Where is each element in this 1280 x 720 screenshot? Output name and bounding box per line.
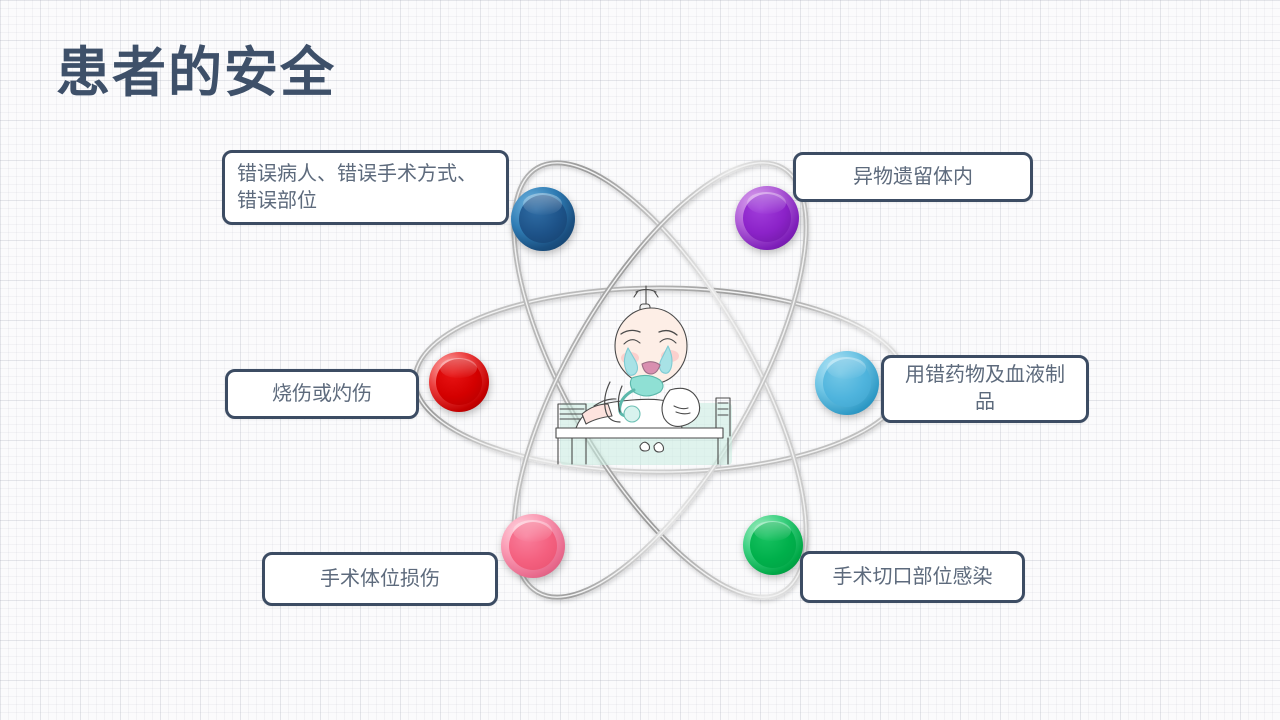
crying-patient-illustration bbox=[548, 278, 753, 478]
label-box-position-injury[interactable]: 手术体位损伤 bbox=[262, 552, 498, 606]
node-sphere-burn[interactable] bbox=[429, 352, 489, 412]
node-sphere-foreign-body[interactable] bbox=[735, 186, 799, 250]
node-sphere-wound-infection[interactable] bbox=[743, 515, 803, 575]
label-box-wrong-patient[interactable]: 错误病人、错误手术方式、错误部位 bbox=[222, 150, 509, 225]
label-text-position-injury: 手术体位损伤 bbox=[277, 566, 483, 593]
label-text-burn: 烧伤或灼伤 bbox=[240, 381, 404, 408]
label-text-wound-infection: 手术切口部位感染 bbox=[815, 564, 1010, 591]
page-title: 患者的安全 bbox=[56, 44, 336, 103]
label-box-burn[interactable]: 烧伤或灼伤 bbox=[225, 369, 419, 419]
sphere-core bbox=[750, 522, 796, 568]
node-sphere-wrong-drug[interactable] bbox=[815, 351, 879, 415]
slide-canvas: 患者的安全 bbox=[0, 0, 1280, 720]
label-text-wrong-drug: 用错药物及血液制品 bbox=[896, 362, 1074, 416]
label-text-wrong-patient: 错误病人、错误手术方式、错误部位 bbox=[237, 161, 494, 215]
node-sphere-wrong-patient[interactable] bbox=[511, 187, 575, 251]
sphere-core bbox=[436, 359, 482, 405]
label-box-foreign-body[interactable]: 异物遗留体内 bbox=[793, 152, 1033, 202]
label-box-wrong-drug[interactable]: 用错药物及血液制品 bbox=[881, 355, 1089, 423]
label-text-foreign-body: 异物遗留体内 bbox=[808, 164, 1018, 191]
node-sphere-position-injury[interactable] bbox=[501, 514, 565, 578]
label-box-wound-infection[interactable]: 手术切口部位感染 bbox=[800, 551, 1025, 603]
